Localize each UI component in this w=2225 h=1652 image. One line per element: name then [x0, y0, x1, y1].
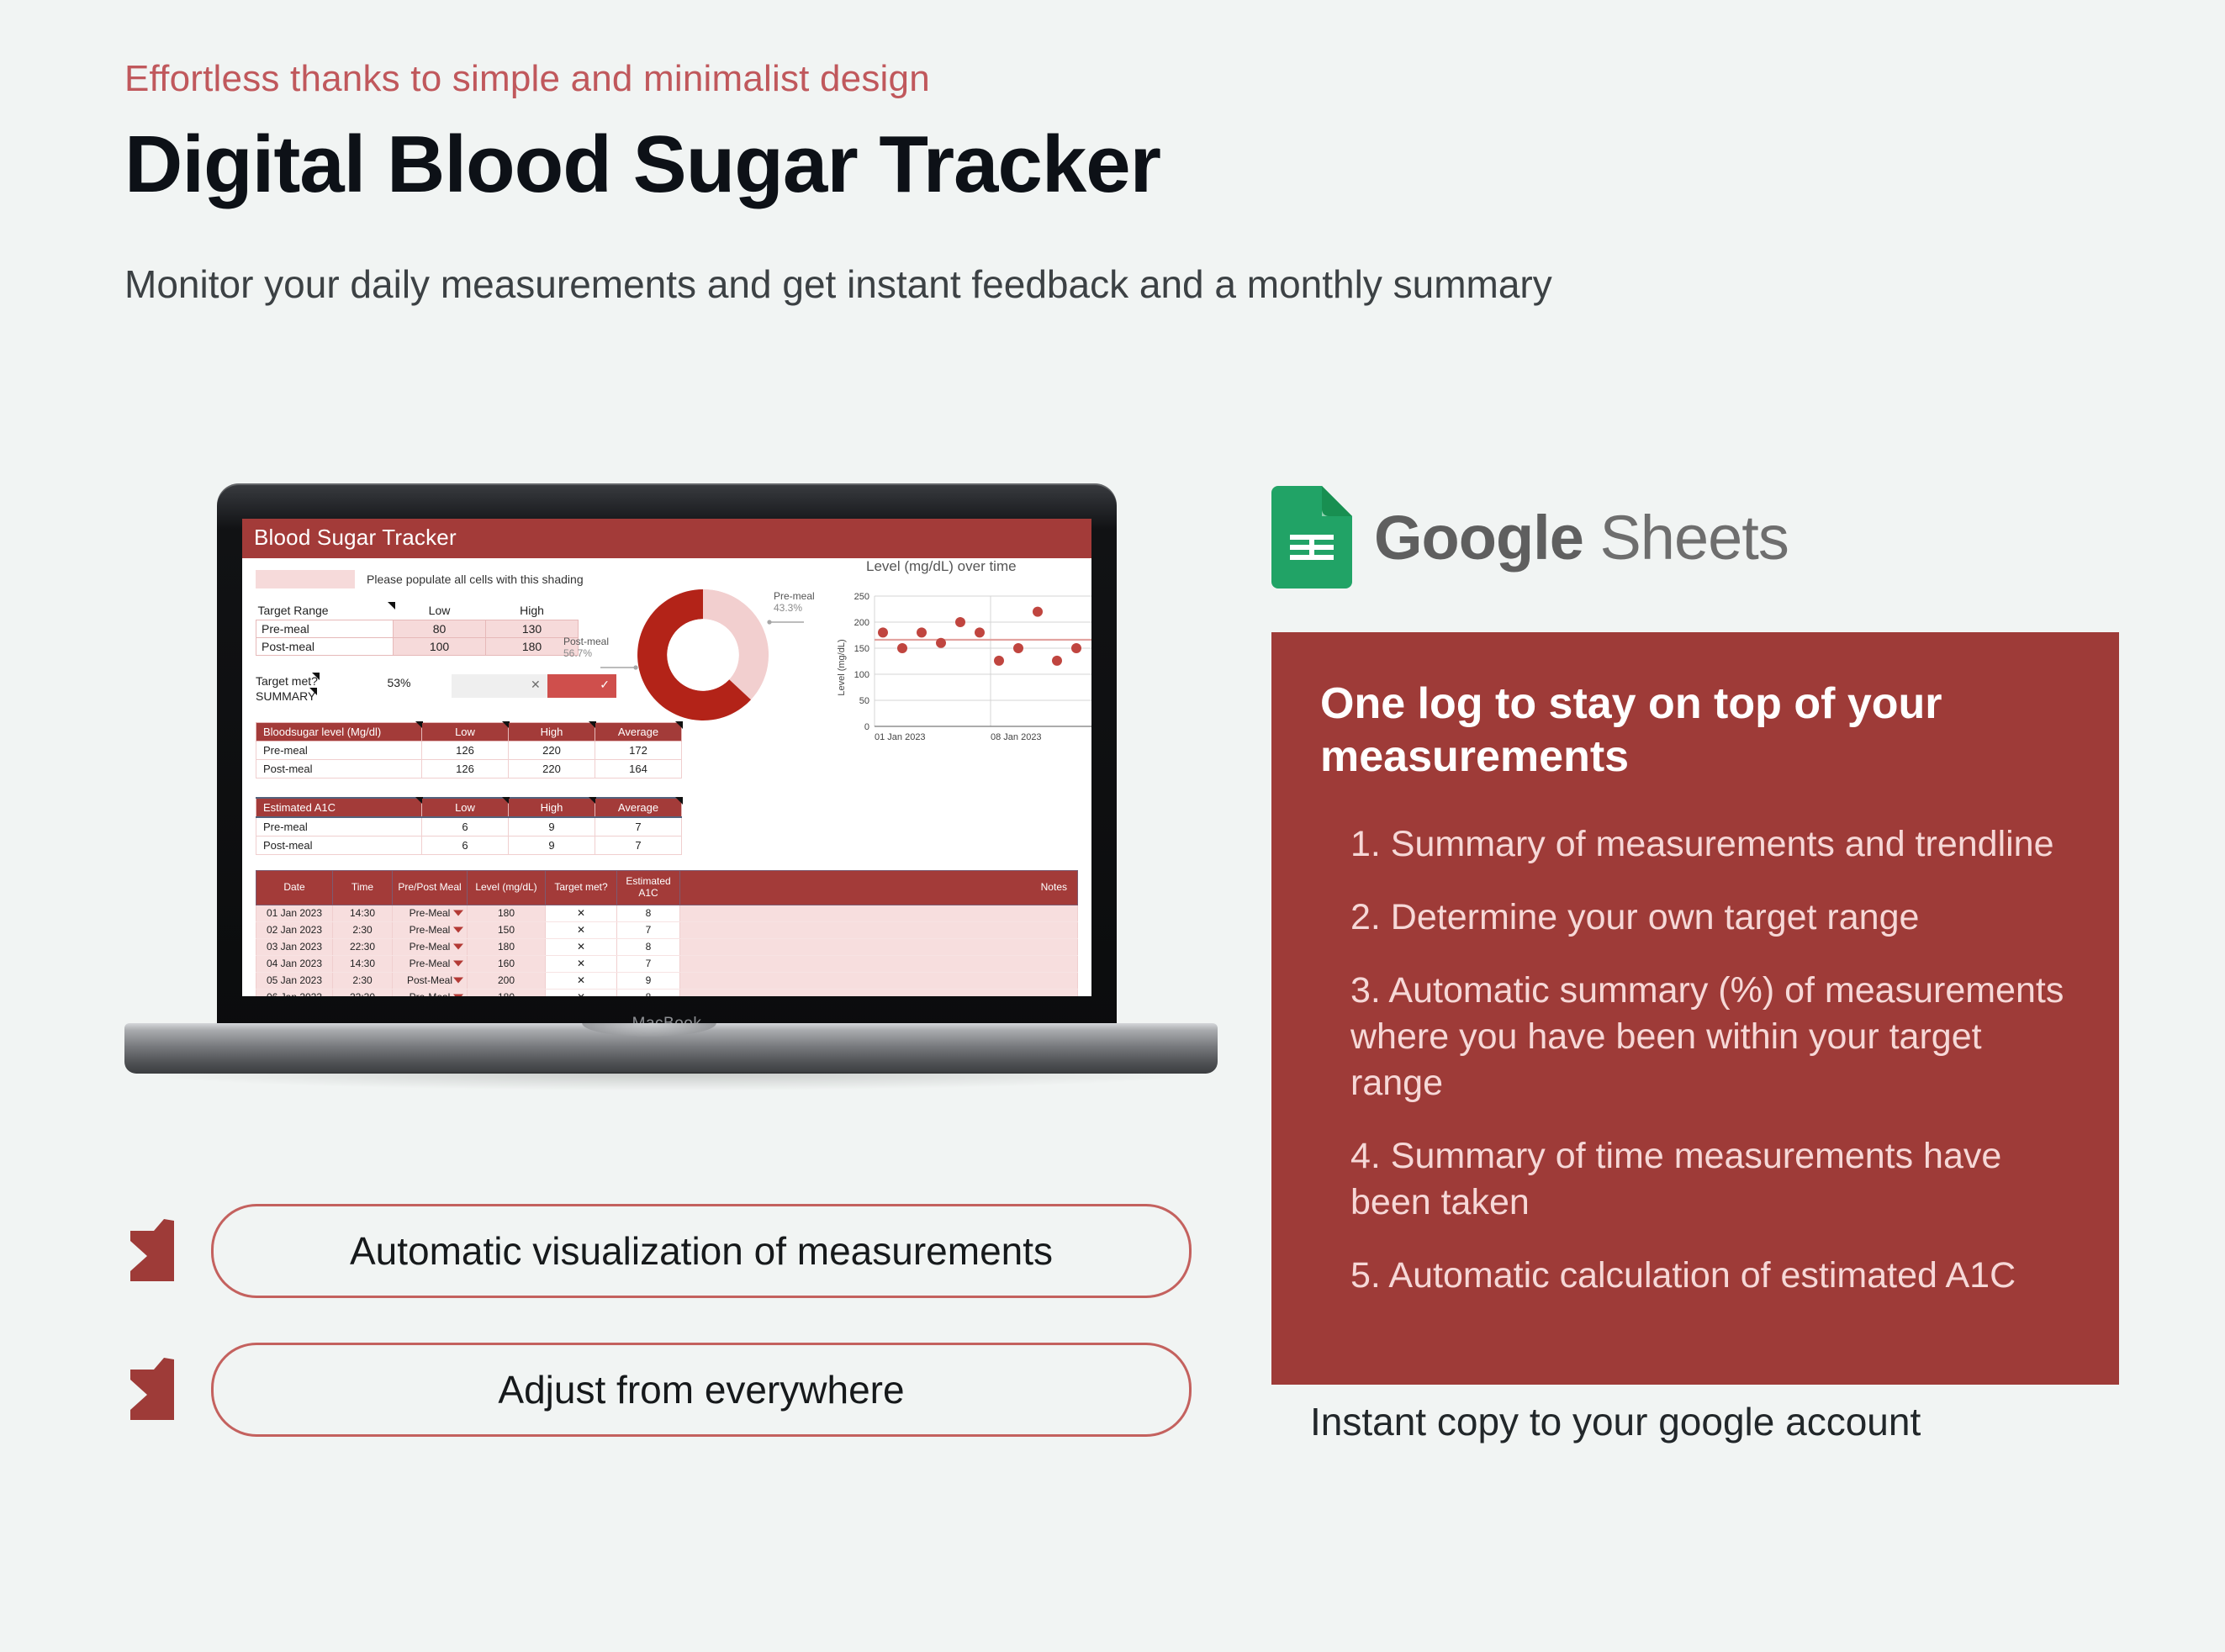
svg-text:01 Jan 2023: 01 Jan 2023	[875, 732, 926, 742]
log-cell-a1c[interactable]: 7	[617, 955, 680, 972]
log-cell-time[interactable]: 2:30	[333, 972, 393, 989]
a1c-cell-low: 6	[422, 837, 509, 855]
target-range-cell-low[interactable]: 80	[394, 620, 486, 638]
log-cell-notes[interactable]	[680, 921, 1078, 938]
log-cell-a1c[interactable]: 8	[617, 905, 680, 921]
log-cell-notes[interactable]	[680, 938, 1078, 955]
log-cell-a1c[interactable]: 8	[617, 938, 680, 955]
table-row: Pre-meal 6 9 7	[256, 817, 682, 837]
log-col-time: Time	[333, 871, 393, 905]
target-met-label: Target met?	[256, 674, 318, 689]
a1c-summary-table: Estimated A1C Low High Average Pre-meal …	[256, 797, 682, 855]
target-met-labels: Target met? SUMMARY	[256, 674, 346, 704]
svg-text:100: 100	[854, 670, 869, 680]
log-cell-met[interactable]: ✕	[546, 921, 617, 938]
arrow-left-icon	[122, 1212, 182, 1290]
log-cell-met[interactable]: ✕	[546, 938, 617, 955]
bloodsugar-row-label: Pre-meal	[256, 742, 422, 760]
log-cell-time[interactable]: 14:30	[333, 905, 393, 921]
a1c-cell-avg: 7	[595, 817, 682, 837]
dropdown-caret-icon[interactable]	[453, 910, 463, 916]
log-cell-date[interactable]: 03 Jan 2023	[256, 938, 333, 955]
log-cell-notes[interactable]	[680, 972, 1078, 989]
svg-text:250: 250	[854, 592, 869, 602]
google-sheets-icon	[1271, 486, 1352, 588]
donut-value-post-meal: 56.7%	[563, 647, 609, 659]
a1c-col-low: Low	[422, 798, 509, 817]
log-cell-date[interactable]: 02 Jan 2023	[256, 921, 333, 938]
log-cell-date[interactable]: 01 Jan 2023	[256, 905, 333, 921]
log-cell-met[interactable]: ✕	[546, 972, 617, 989]
log-cell-level[interactable]: 180	[468, 905, 546, 921]
bloodsugar-cell-low: 126	[422, 760, 509, 778]
a1c-col-high: High	[509, 798, 595, 817]
table-row: 03 Jan 202322:30Pre-Meal180✕8	[256, 938, 1078, 955]
feature-pill-row: Adjust from everywhere	[122, 1343, 1192, 1437]
dropdown-caret-icon[interactable]	[453, 961, 463, 967]
log-cell-a1c[interactable]: 7	[617, 921, 680, 938]
arrow-left-icon	[122, 1351, 182, 1428]
log-cell-date[interactable]: 06 Jan 2023	[256, 989, 333, 996]
google-sheets-wordmark: Google Sheets	[1374, 502, 1789, 573]
list-item: 3. Automatic summary (%) of measurements…	[1320, 968, 2070, 1106]
laptop-screen: Blood Sugar Tracker Please populate all …	[242, 519, 1091, 996]
svg-text:Level (mg/dL): Level (mg/dL)	[837, 639, 847, 695]
svg-text:50: 50	[859, 696, 869, 706]
pill-button-visualization[interactable]: Automatic visualization of measurements	[211, 1204, 1192, 1298]
log-cell-level[interactable]: 150	[468, 921, 546, 938]
svg-text:0: 0	[864, 722, 869, 732]
laptop-lid: Blood Sugar Tracker Please populate all …	[217, 483, 1117, 1055]
level-over-time-chart: Level (mg/dL) over time 250 200 150 100 …	[822, 558, 1091, 768]
page-header: Effortless thanks to simple and minimali…	[124, 59, 2059, 306]
log-cell-meal[interactable]: Pre-Meal	[393, 955, 468, 972]
svg-text:150: 150	[854, 644, 869, 654]
dropdown-caret-icon[interactable]	[453, 944, 463, 950]
a1c-cell-high: 9	[509, 817, 595, 837]
log-cell-time[interactable]: 2:30	[333, 921, 393, 938]
log-cell-time[interactable]: 22:30	[333, 989, 393, 996]
log-cell-a1c[interactable]: 9	[617, 972, 680, 989]
table-row: Post-meal 126 220 164	[256, 760, 682, 778]
log-cell-notes[interactable]	[680, 989, 1078, 996]
log-cell-level[interactable]: 200	[468, 972, 546, 989]
pill-button-adjust[interactable]: Adjust from everywhere	[211, 1343, 1192, 1437]
meal-split-donut-chart: Pre-meal 43.3% Post-meal 56.7%	[562, 567, 839, 760]
log-cell-date[interactable]: 05 Jan 2023	[256, 972, 333, 989]
feature-pill-row: Automatic visualization of measurements	[122, 1204, 1192, 1298]
log-col-met: Target met?	[546, 871, 617, 905]
page-title: Digital Blood Sugar Tracker	[124, 123, 2059, 208]
laptop-base	[124, 1023, 1218, 1074]
target-range-col-low: Low	[394, 604, 486, 620]
donut-label-post-meal: Post-meal	[563, 636, 609, 647]
summary-label: SUMMARY	[256, 689, 315, 705]
log-cell-notes[interactable]	[680, 955, 1078, 972]
table-row: 04 Jan 202314:30Pre-Meal160✕7	[256, 955, 1078, 972]
bloodsugar-col-low: Low	[422, 723, 509, 742]
log-cell-met[interactable]: ✕	[546, 955, 617, 972]
log-col-date: Date	[256, 871, 333, 905]
pill-label: Adjust from everywhere	[498, 1367, 904, 1412]
log-cell-time[interactable]: 14:30	[333, 955, 393, 972]
table-row: Pre-meal 80 130	[256, 620, 579, 638]
google-sheets-logo: Google Sheets	[1271, 486, 1789, 588]
feature-panel-title: One log to stay on top of your measureme…	[1320, 678, 2070, 784]
log-col-level: Level (mg/dL)	[468, 871, 546, 905]
a1c-row-label: Post-meal	[256, 837, 422, 855]
log-cell-meal[interactable]: Pre-Meal	[393, 938, 468, 955]
bloodsugar-cell-low: 126	[422, 742, 509, 760]
a1c-summary-title: Estimated A1C	[256, 798, 422, 817]
target-range-row-label: Post-meal	[256, 638, 394, 656]
feature-panel-list: 1. Summary of measurements and trendline…	[1320, 821, 2070, 1299]
measurement-log-table: Date Time Pre/Post Meal Level (mg/dL) Ta…	[256, 870, 1078, 996]
cross-icon: ✕	[531, 678, 541, 692]
google-word: Google	[1374, 503, 1583, 573]
laptop-shadow	[141, 1072, 1201, 1090]
bloodsugar-summary-title: Bloodsugar level (Mg/dl)	[256, 723, 422, 742]
bloodsugar-cell-avg: 164	[595, 760, 682, 778]
list-item: 5. Automatic calculation of estimated A1…	[1320, 1253, 2070, 1299]
shading-swatch	[256, 570, 355, 588]
page-subtitle: Monitor your daily measurements and get …	[124, 262, 2059, 307]
spreadsheet: Blood Sugar Tracker Please populate all …	[242, 519, 1091, 996]
svg-text:200: 200	[854, 618, 869, 628]
log-cell-met[interactable]: ✕	[546, 989, 617, 996]
table-row: Post-meal 6 9 7	[256, 837, 682, 855]
a1c-cell-avg: 7	[595, 837, 682, 855]
log-col-meal: Pre/Post Meal	[393, 871, 468, 905]
a1c-row-label: Pre-meal	[256, 817, 422, 837]
target-met-bar-miss: ✕	[452, 674, 547, 698]
a1c-cell-high: 9	[509, 837, 595, 855]
table-row: 02 Jan 20232:30Pre-Meal150✕7	[256, 921, 1078, 938]
list-item: 2. Determine your own target range	[1320, 895, 2070, 941]
pill-label: Automatic visualization of measurements	[350, 1228, 1053, 1274]
log-cell-meal[interactable]: Pre-Meal	[393, 989, 468, 996]
a1c-cell-low: 6	[422, 817, 509, 837]
feature-panel-caption: Instant copy to your google account	[1310, 1399, 1921, 1444]
log-cell-a1c[interactable]: 8	[617, 989, 680, 996]
log-cell-meal[interactable]: Pre-Meal	[393, 921, 468, 938]
sheets-word: Sheets	[1599, 503, 1788, 573]
eyebrow-text: Effortless thanks to simple and minimali…	[124, 59, 2059, 99]
log-cell-meal[interactable]: Pre-Meal	[393, 905, 468, 921]
table-row: Post-meal 100 180	[256, 638, 579, 656]
spreadsheet-title: Blood Sugar Tracker	[242, 519, 1091, 558]
donut-label-pre-meal: Pre-meal	[774, 590, 815, 602]
dropdown-caret-icon[interactable]	[453, 995, 463, 996]
table-row: 06 Jan 202322:30Pre-Meal180✕8	[256, 989, 1078, 996]
target-range-table: Target Range Low High Pre-meal 80 130 Po…	[256, 604, 579, 656]
target-range-cell-low[interactable]: 100	[394, 638, 486, 656]
log-cell-meal[interactable]: Post-Meal	[393, 972, 468, 989]
list-item: 1. Summary of measurements and trendline	[1320, 821, 2070, 868]
bloodsugar-cell-high: 220	[509, 760, 595, 778]
measurement-log-body: 01 Jan 202314:30Pre-Meal180✕802 Jan 2023…	[256, 905, 1078, 996]
log-cell-level[interactable]: 180	[468, 938, 546, 955]
log-cell-level[interactable]: 160	[468, 955, 546, 972]
svg-text:08 Jan 2023: 08 Jan 2023	[991, 732, 1042, 742]
log-col-notes: Notes	[680, 871, 1078, 905]
log-cell-notes[interactable]	[680, 905, 1078, 921]
target-range-label: Target Range	[256, 604, 394, 620]
list-item: 4. Summary of time measurements have bee…	[1320, 1133, 2070, 1226]
log-cell-level[interactable]: 180	[468, 989, 546, 996]
shading-note-text: Please populate all cells with this shad…	[367, 573, 584, 586]
log-cell-met[interactable]: ✕	[546, 905, 617, 921]
dropdown-caret-icon[interactable]	[453, 978, 463, 984]
bloodsugar-row-label: Post-meal	[256, 760, 422, 778]
dropdown-caret-icon[interactable]	[453, 927, 463, 933]
log-col-a1c: Estimated A1C	[617, 871, 680, 905]
feature-panel: One log to stay on top of your measureme…	[1271, 632, 2119, 1385]
log-cell-date[interactable]: 04 Jan 2023	[256, 955, 333, 972]
table-row: 01 Jan 202314:30Pre-Meal180✕8	[256, 905, 1078, 921]
target-range-row-label: Pre-meal	[256, 620, 394, 638]
a1c-col-avg: Average	[595, 798, 682, 817]
chart-title: Level (mg/dL) over time	[822, 558, 1091, 575]
log-cell-time[interactable]: 22:30	[333, 938, 393, 955]
target-met-percent: 53%	[355, 674, 443, 689]
table-row: 05 Jan 20232:30Post-Meal200✕9	[256, 972, 1078, 989]
donut-value-pre-meal: 43.3%	[774, 602, 815, 614]
laptop-mockup: Blood Sugar Tracker Please populate all …	[124, 483, 1218, 1106]
